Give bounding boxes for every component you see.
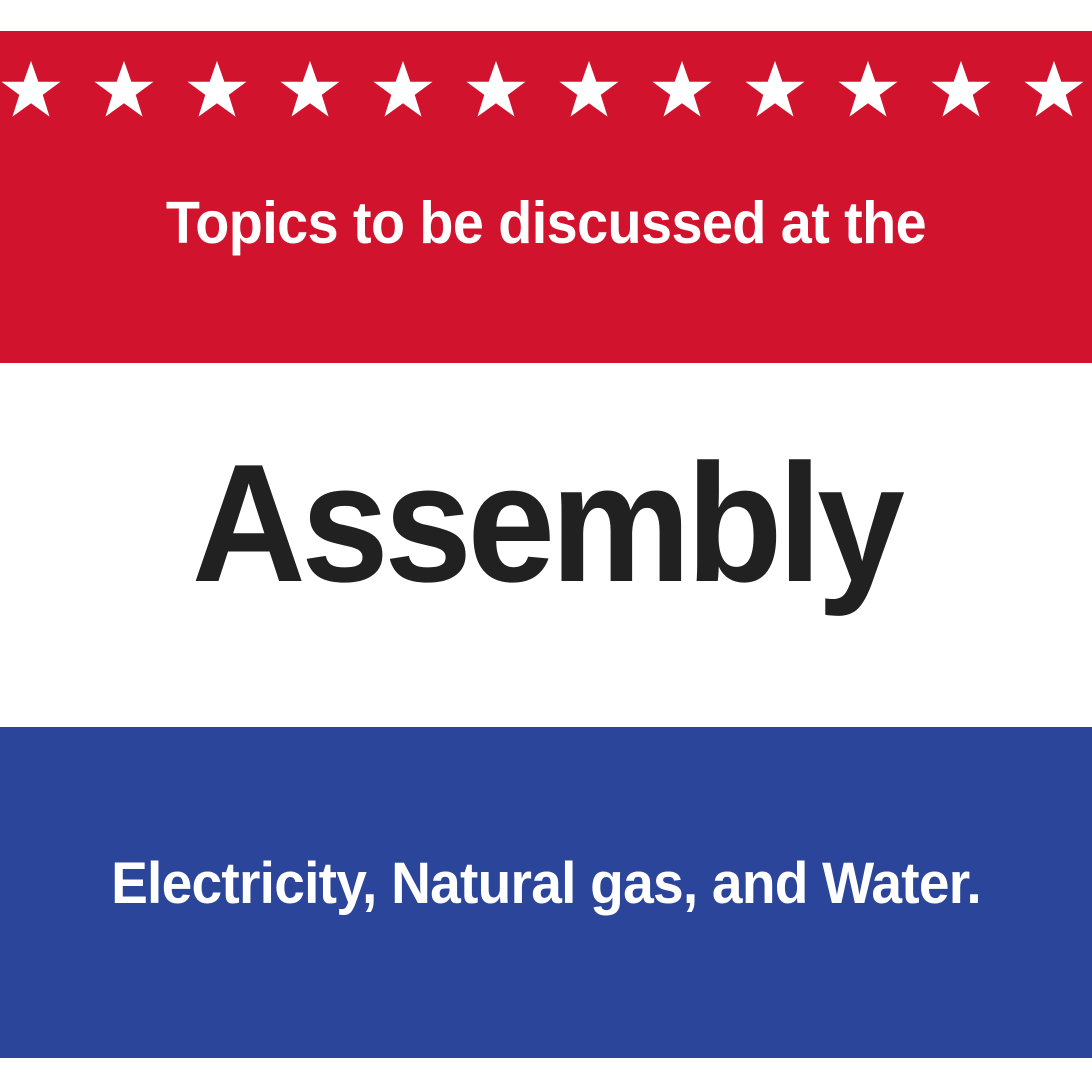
poster-canvas: Topics to be discussed at the Assembly E… xyxy=(0,0,1092,1092)
star-decoration-row xyxy=(0,57,1092,123)
bottom-white-strip xyxy=(0,1058,1092,1092)
star-icon xyxy=(279,59,341,121)
star-icon xyxy=(372,59,434,121)
star-icon xyxy=(465,59,527,121)
white-banner-section: Assembly xyxy=(0,363,1092,727)
star-icon xyxy=(186,59,248,121)
star-icon xyxy=(837,59,899,121)
star-icon xyxy=(930,59,992,121)
star-icon xyxy=(93,59,155,121)
blue-banner-section: Electricity, Natural gas, and Water. xyxy=(0,727,1092,1058)
red-banner-section: Topics to be discussed at the xyxy=(0,31,1092,363)
topics-list-headline: Electricity, Natural gas, and Water. xyxy=(27,855,1064,913)
star-icon xyxy=(558,59,620,121)
star-icon xyxy=(0,59,62,121)
star-icon xyxy=(651,59,713,121)
intro-headline: Topics to be discussed at the xyxy=(30,194,1062,253)
star-icon xyxy=(744,59,806,121)
star-icon xyxy=(1023,59,1085,121)
main-title: Assembly xyxy=(33,439,1059,607)
